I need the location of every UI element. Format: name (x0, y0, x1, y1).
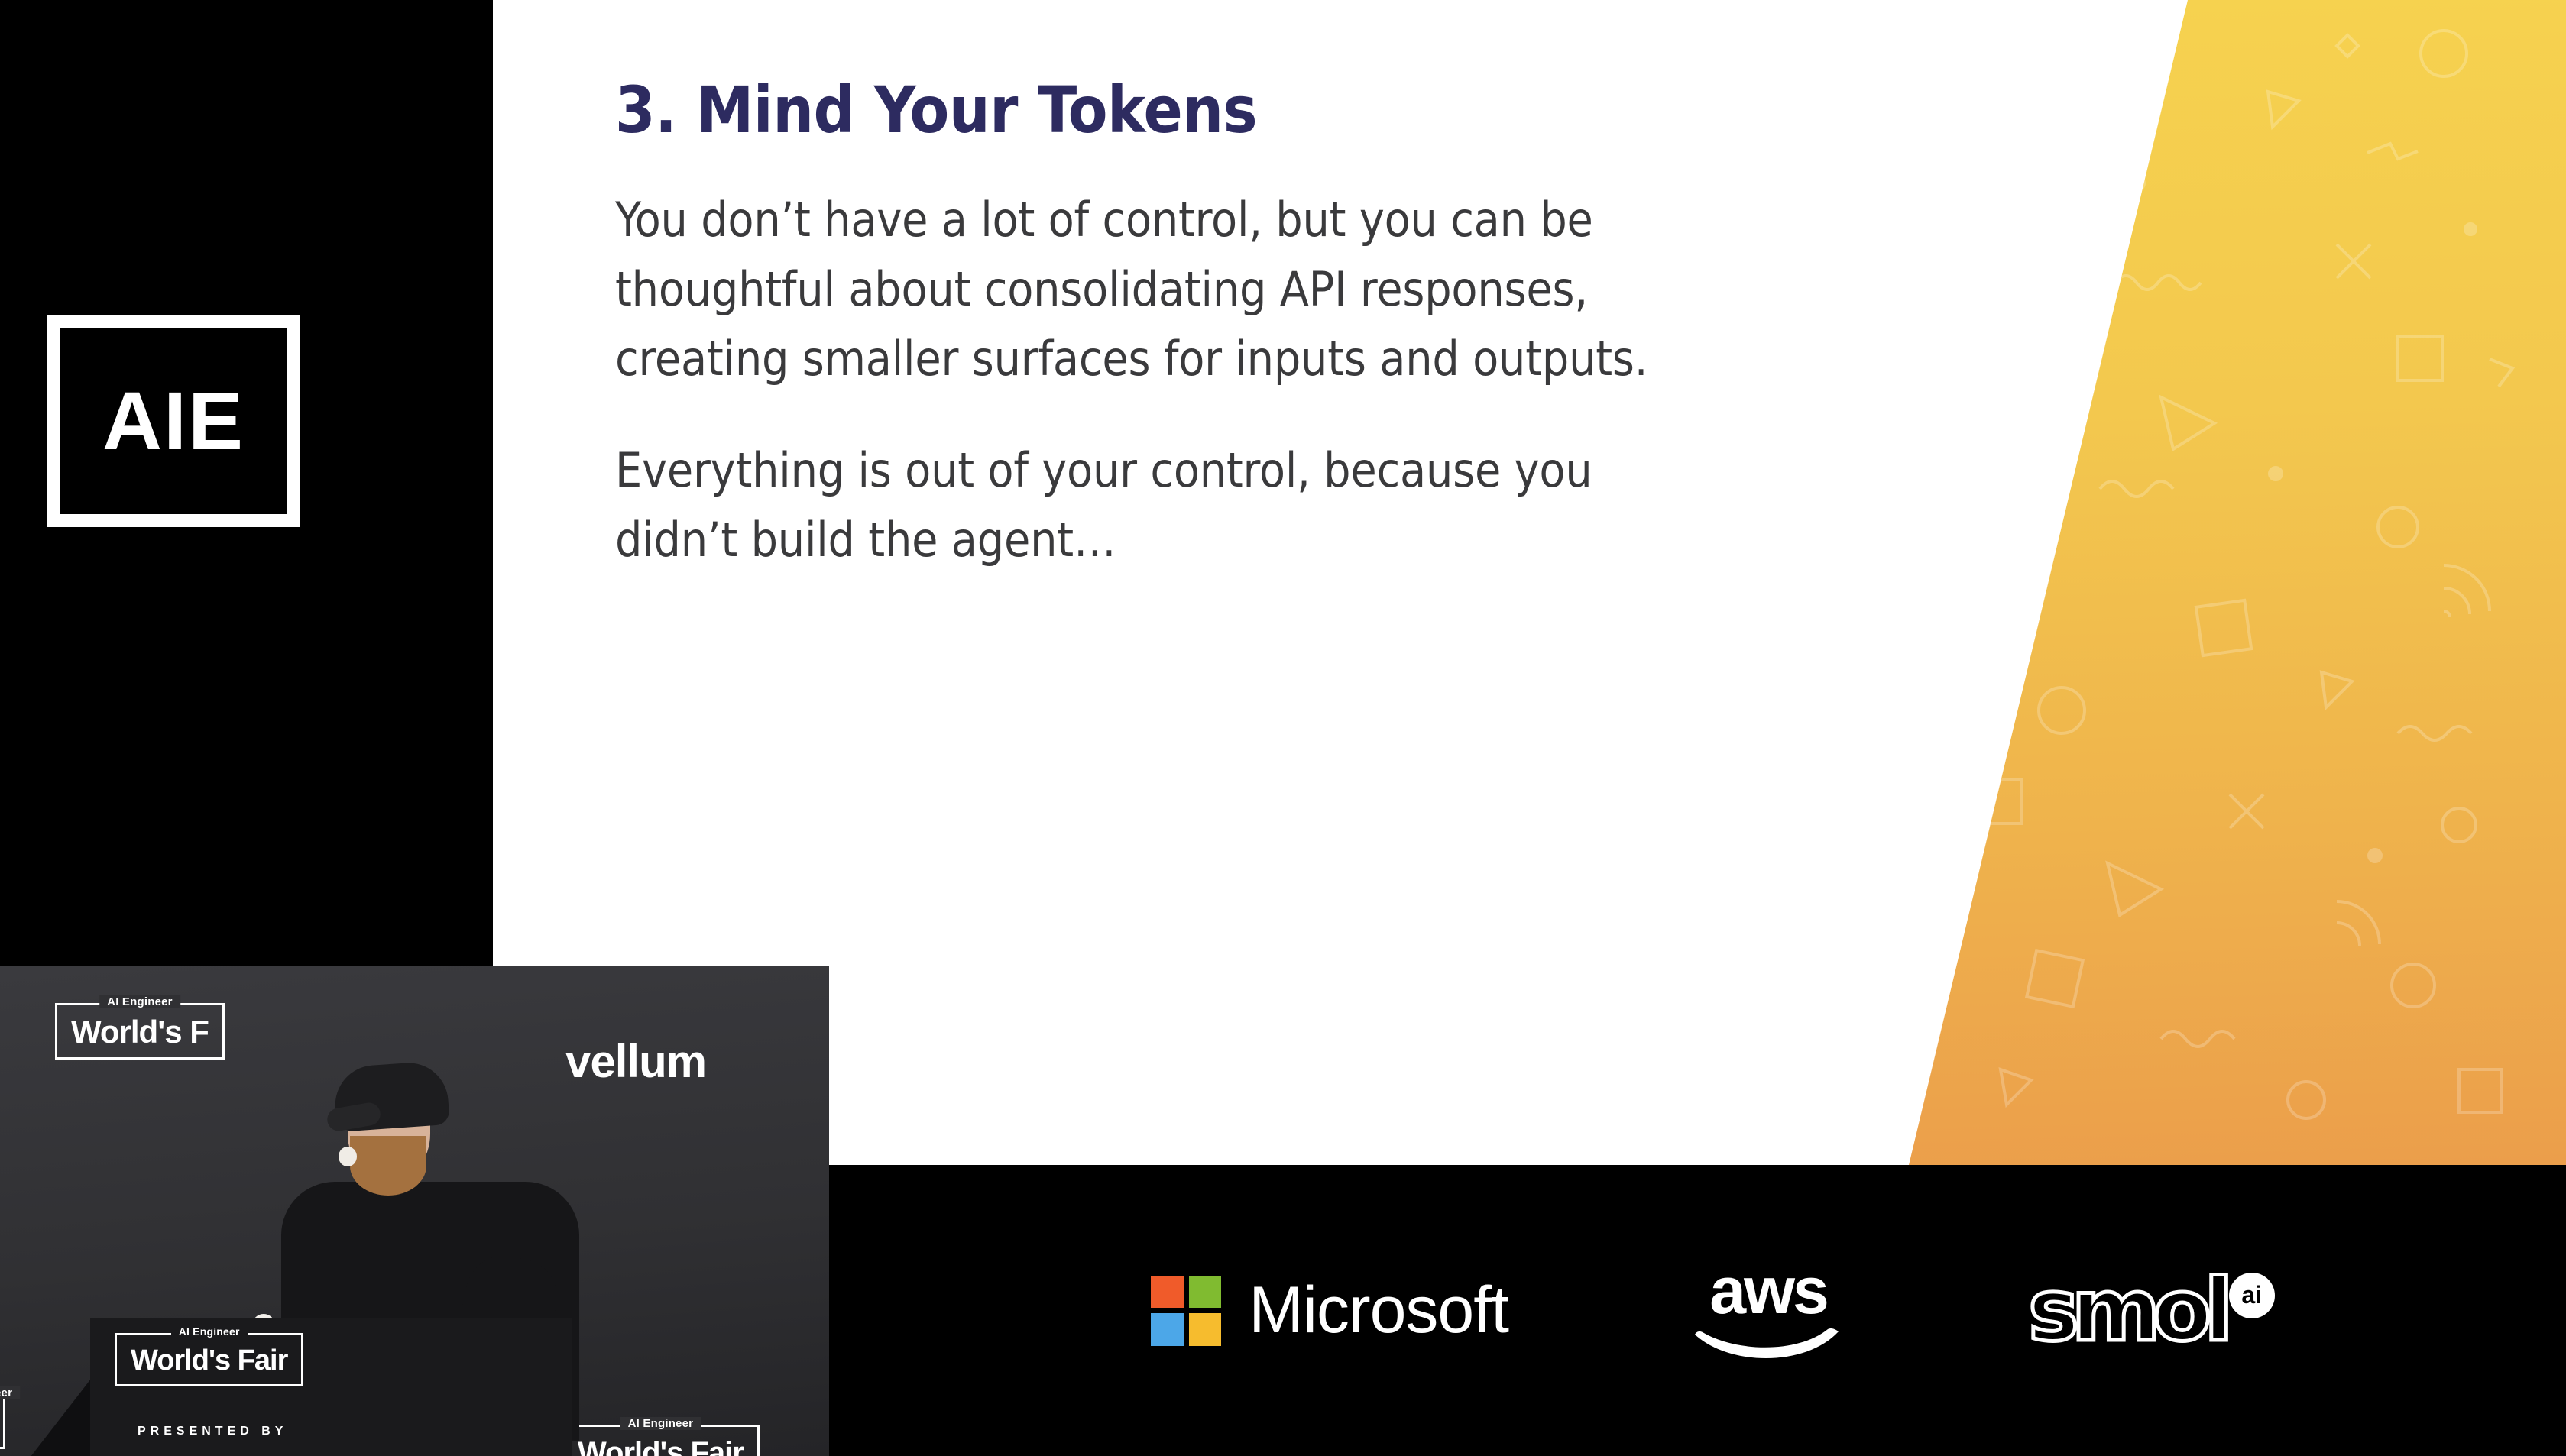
smol-ai-badge: ai (2229, 1273, 2275, 1318)
backdrop-sign-box-2: AI Engineer ir (0, 1394, 5, 1449)
microsoft-square-yellow (1189, 1313, 1222, 1346)
sponsor-logo-smol-ai: smol ai (2028, 1268, 2275, 1354)
backdrop-sign-box-3: AI Engineer World's Fair (562, 1425, 760, 1456)
speaker-beard (350, 1136, 426, 1196)
backdrop-sign-kicker-2: AI Engineer (0, 1386, 20, 1399)
podium-presented-by: PRESENTED BY (138, 1425, 287, 1438)
backdrop-sign-title: World's F (71, 1016, 209, 1048)
sponsor-logo-microsoft: Microsoft (1151, 1273, 1508, 1348)
backdrop-sign-lower-right: AI Engineer World's Fair (562, 1425, 760, 1456)
slide-paragraph-2: Everything is out of your control, becau… (615, 435, 1708, 574)
speaker-earpiece (339, 1147, 357, 1166)
backdrop-sign-lower-left: AI Engineer ir (0, 1394, 5, 1449)
microsoft-square-blue (1151, 1313, 1184, 1346)
slide-paragraph-1: You don’t have a lot of control, but you… (615, 185, 1708, 393)
aws-smile-icon (1692, 1327, 1845, 1361)
smol-wordmark: smol (2028, 1268, 2226, 1354)
aws-wordmark: aws (1709, 1260, 1827, 1323)
sponsor-logo-aws: aws (1692, 1260, 1845, 1361)
backdrop-sign-top: AI Engineer World's F (55, 1003, 225, 1060)
backdrop-sign-kicker-3: AI Engineer (620, 1417, 701, 1430)
podium-sign: AI Engineer World's Fair (115, 1333, 303, 1386)
microsoft-square-red (1151, 1276, 1184, 1309)
microsoft-square-green (1189, 1276, 1222, 1309)
sponsor-list: Microsoft aws smol ai (829, 1165, 2566, 1456)
podium-sign-box: AI Engineer World's Fair (115, 1333, 303, 1386)
backdrop-sign-kicker: AI Engineer (99, 995, 180, 1008)
podium-sign-title: World's Fair (131, 1346, 287, 1375)
microsoft-squares-icon (1151, 1276, 1221, 1346)
backdrop-sign-title-3: World's Fair (578, 1438, 744, 1456)
slide-text-block: 3. Mind Your Tokens You don’t have a lot… (615, 76, 1708, 574)
presentation-stage: 3. Mind Your Tokens You don’t have a lot… (0, 0, 2566, 1456)
accent-doodle-pattern (1909, 0, 2566, 1165)
aie-logo: AIE (47, 315, 300, 527)
podium-sign-kicker: AI Engineer (171, 1325, 248, 1338)
aie-logo-text: AIE (102, 380, 245, 462)
page-title: 3. Mind Your Tokens (615, 76, 1708, 144)
sponsor-bar: Microsoft aws smol ai (829, 1165, 2566, 1456)
backdrop-sponsor-vellum: vellum (565, 1035, 706, 1088)
microsoft-wordmark: Microsoft (1249, 1273, 1508, 1348)
slide-accent-shape (1909, 0, 2566, 1165)
backdrop-sign-box: AI Engineer World's F (55, 1003, 225, 1060)
